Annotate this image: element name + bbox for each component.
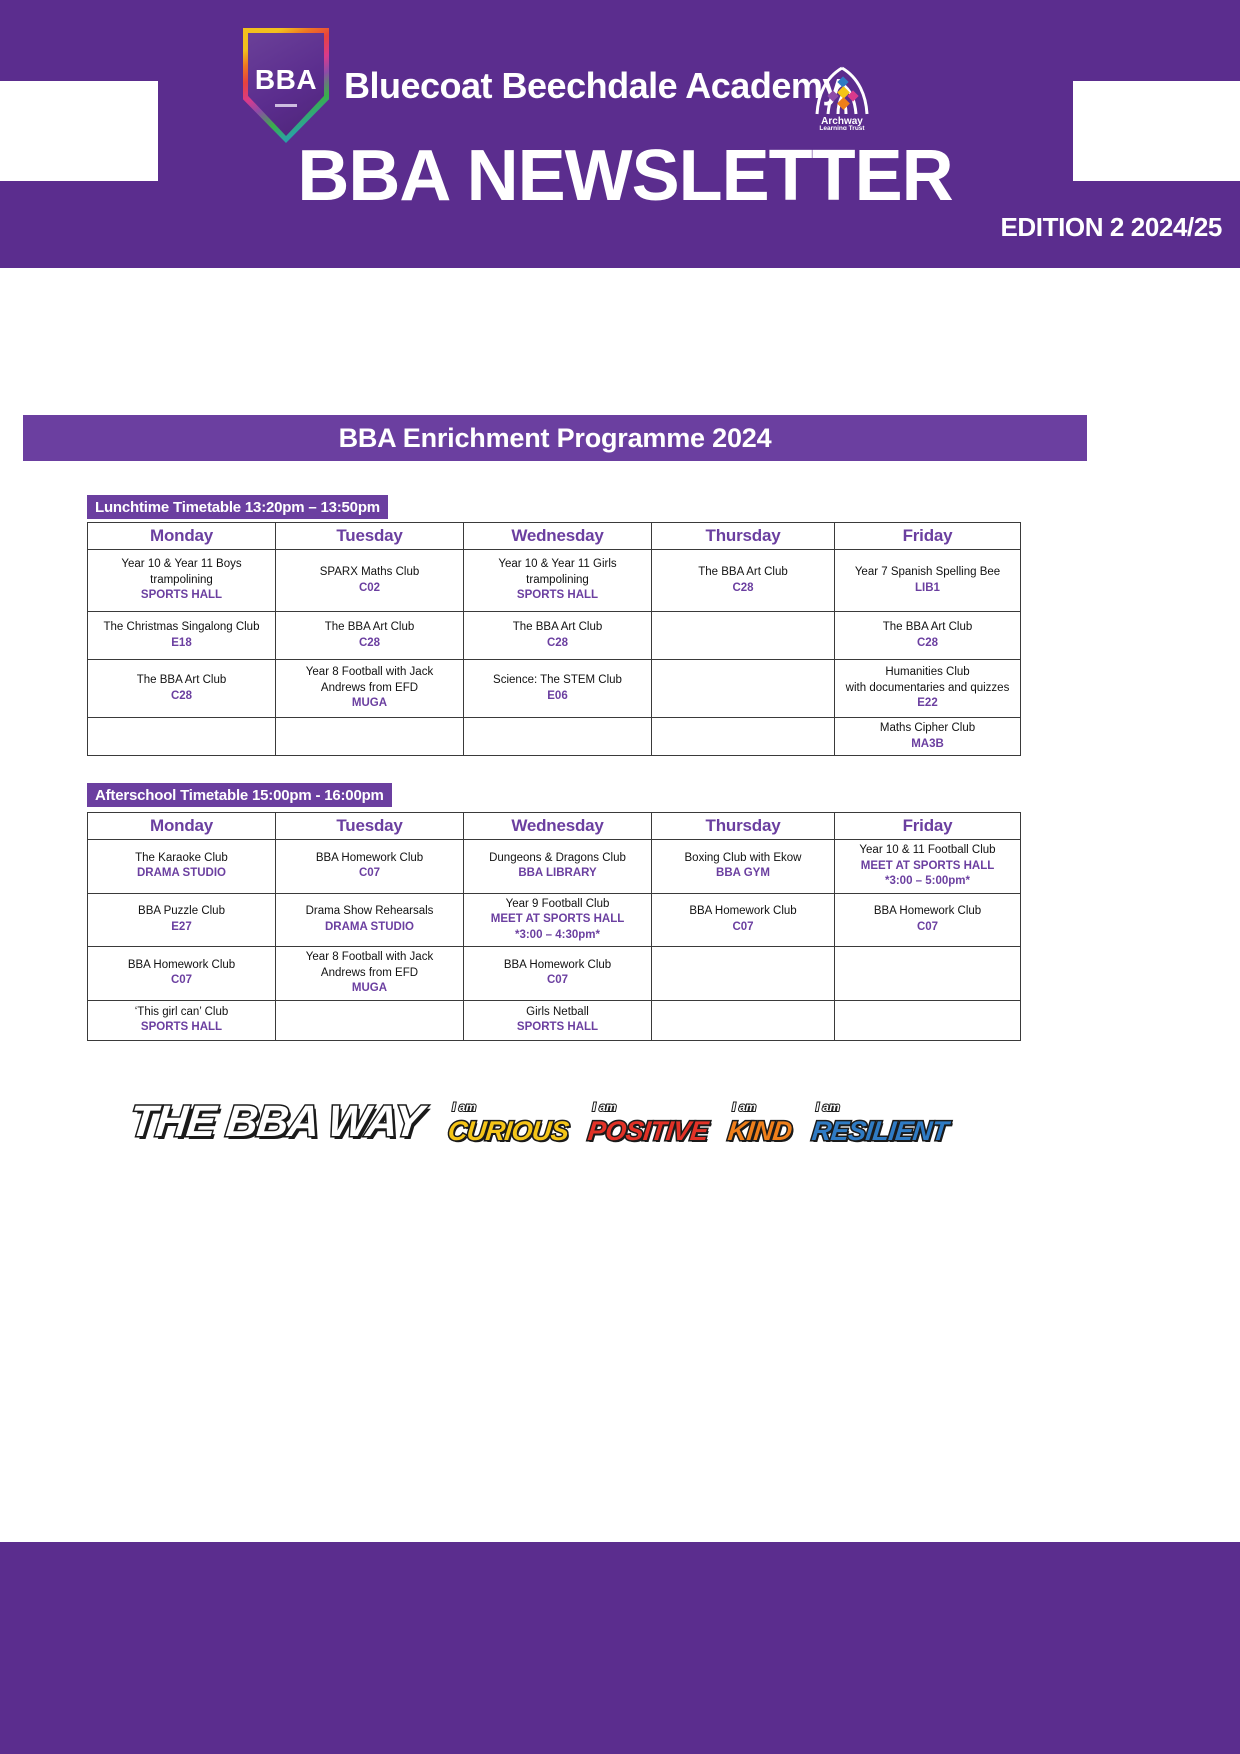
club-room: C07	[92, 973, 271, 989]
academy-name: Bluecoat Beechdale Academy	[344, 65, 842, 107]
empty-cell	[88, 718, 276, 756]
club-name: The BBA Art Club	[92, 673, 271, 689]
club-name: Andrews from EFD	[280, 681, 459, 697]
club-name: BBA Homework Club	[839, 904, 1016, 920]
club-room: C28	[839, 636, 1016, 652]
afterschool-table-body: The Karaoke ClubDRAMA STUDIOBBA Homework…	[88, 840, 1021, 1041]
club-room: MEET AT SPORTS HALL	[468, 912, 647, 928]
afterschool-timetable: MondayTuesdayWednesdayThursdayFriday The…	[87, 812, 1021, 1041]
club-name: The Karaoke Club	[92, 851, 271, 867]
bba-way-iam-label: I am	[452, 1100, 476, 1114]
bba-way-value-word: RESILIENT	[810, 1116, 949, 1147]
page-header: BBA Bluecoat Beechdale Academy	[0, 0, 1240, 268]
club-room: C07	[656, 920, 830, 936]
column-header-wednesday: Wednesday	[464, 813, 652, 840]
club-cell: Year 7 Spanish Spelling BeeLIB1	[835, 550, 1021, 612]
empty-cell	[652, 1000, 835, 1040]
shield-dash-icon	[275, 104, 297, 107]
column-header-tuesday: Tuesday	[276, 813, 464, 840]
club-room: E06	[468, 689, 647, 705]
club-room: MUGA	[280, 696, 459, 712]
club-time-note: *3:00 – 4:30pm*	[468, 928, 647, 944]
column-header-tuesday: Tuesday	[276, 523, 464, 550]
newsletter-title: BBA NEWSLETTER	[0, 140, 1240, 212]
shield-label: BBA	[243, 64, 329, 96]
table-row: BBA Homework ClubC07Year 8 Football with…	[88, 947, 1021, 1001]
club-room: E18	[92, 636, 271, 652]
club-cell: Girls NetballSPORTS HALL	[464, 1000, 652, 1040]
empty-cell	[464, 718, 652, 756]
club-cell: Year 10 & Year 11 BoystrampoliningSPORTS…	[88, 550, 276, 612]
table-row: The Christmas Singalong ClubE18The BBA A…	[88, 612, 1021, 660]
club-name: Year 9 Football Club	[468, 897, 647, 913]
club-cell: The BBA Art ClubC28	[464, 612, 652, 660]
club-room: E27	[92, 920, 271, 936]
club-name: The BBA Art Club	[656, 565, 830, 581]
column-header-wednesday: Wednesday	[464, 523, 652, 550]
club-room: C02	[280, 581, 459, 597]
club-cell: Year 10 & 11 Football ClubMEET AT SPORTS…	[835, 840, 1021, 894]
club-name: The Christmas Singalong Club	[92, 620, 271, 636]
archway-trust-logo: Archway Learning Trust	[813, 62, 871, 130]
club-cell: Drama Show RehearsalsDRAMA STUDIO	[276, 893, 464, 947]
club-name: Year 8 Football with Jack	[280, 665, 459, 681]
club-room: LIB1	[839, 581, 1016, 597]
club-cell: The Karaoke ClubDRAMA STUDIO	[88, 840, 276, 894]
lunchtime-table-head: MondayTuesdayWednesdayThursdayFriday	[88, 523, 1021, 550]
table-row: Maths Cipher ClubMA3B	[88, 718, 1021, 756]
club-room: MA3B	[839, 737, 1016, 753]
club-name: Year 8 Football with Jack	[280, 950, 459, 966]
club-name: BBA Homework Club	[468, 958, 647, 974]
column-header-friday: Friday	[835, 813, 1021, 840]
club-name: The BBA Art Club	[839, 620, 1016, 636]
club-cell: BBA Homework ClubC07	[88, 947, 276, 1001]
club-name: trampolining	[468, 573, 647, 589]
bba-way-value: I amKIND	[728, 1100, 792, 1147]
brand-row: BBA Bluecoat Beechdale Academy	[243, 28, 842, 143]
club-cell: ‘This girl can’ ClubSPORTS HALL	[88, 1000, 276, 1040]
club-name: Year 7 Spanish Spelling Bee	[839, 565, 1016, 581]
table-row: Year 10 & Year 11 BoystrampoliningSPORTS…	[88, 550, 1021, 612]
table-row: BBA Puzzle ClubE27Drama Show RehearsalsD…	[88, 893, 1021, 947]
table-row: The BBA Art ClubC28Year 8 Football with …	[88, 660, 1021, 718]
club-cell: The BBA Art ClubC28	[88, 660, 276, 718]
club-cell: Year 9 Football ClubMEET AT SPORTS HALL*…	[464, 893, 652, 947]
bba-way-value-word: CURIOUS	[446, 1116, 570, 1147]
club-name: SPARX Maths Club	[280, 565, 459, 581]
table-row: The Karaoke ClubDRAMA STUDIOBBA Homework…	[88, 840, 1021, 894]
club-name: Year 10 & Year 11 Boys	[92, 557, 271, 573]
section-banner: BBA Enrichment Programme 2024	[23, 415, 1087, 461]
section-banner-title: BBA Enrichment Programme 2024	[339, 423, 772, 454]
club-room: C28	[280, 636, 459, 652]
column-header-monday: Monday	[88, 813, 276, 840]
bba-way-iam-label: I am	[816, 1100, 840, 1114]
club-time-note: *3:00 – 5:00pm*	[839, 874, 1016, 890]
club-cell: Maths Cipher ClubMA3B	[835, 718, 1021, 756]
club-room: C07	[839, 920, 1016, 936]
club-name: Year 10 & 11 Football Club	[839, 843, 1016, 859]
club-name: BBA Homework Club	[656, 904, 830, 920]
column-header-thursday: Thursday	[652, 813, 835, 840]
club-name: Drama Show Rehearsals	[280, 904, 459, 920]
club-name: with documentaries and quizzes	[839, 681, 1016, 697]
club-room: C28	[656, 581, 830, 597]
club-name: Andrews from EFD	[280, 966, 459, 982]
club-room: C28	[468, 636, 647, 652]
empty-cell	[276, 1000, 464, 1040]
club-cell: Year 8 Football with JackAndrews from EF…	[276, 947, 464, 1001]
club-name: ‘This girl can’ Club	[92, 1005, 271, 1021]
bba-way-title: THE BBA WAY	[127, 1097, 424, 1147]
club-name: Humanities Club	[839, 665, 1016, 681]
edition-label: EDITION 2 2024/25	[1000, 212, 1222, 243]
bba-shield-logo: BBA	[243, 28, 329, 143]
bba-way-value-word: KIND	[727, 1116, 794, 1147]
empty-cell	[835, 1000, 1021, 1040]
club-room: C07	[468, 973, 647, 989]
afterschool-timetable-label: Afterschool Timetable 15:00pm - 16:00pm	[87, 783, 392, 807]
club-room: SPORTS HALL	[92, 1020, 271, 1036]
column-header-monday: Monday	[88, 523, 276, 550]
club-room: C07	[280, 866, 459, 882]
club-room: DRAMA STUDIO	[92, 866, 271, 882]
club-name: Dungeons & Dragons Club	[468, 851, 647, 867]
club-room: SPORTS HALL	[92, 588, 271, 604]
club-cell: BBA Homework ClubC07	[652, 893, 835, 947]
club-name: The BBA Art Club	[280, 620, 459, 636]
club-cell: BBA Puzzle ClubE27	[88, 893, 276, 947]
bba-way-iam-label: I am	[592, 1100, 616, 1114]
bba-way-values: I amCURIOUSI amPOSITIVEI amKINDI amRESIL…	[448, 1100, 947, 1147]
club-name: Girls Netball	[468, 1005, 647, 1021]
club-cell: The BBA Art ClubC28	[276, 612, 464, 660]
club-room: MUGA	[280, 981, 459, 997]
lunchtime-table-body: Year 10 & Year 11 BoystrampoliningSPORTS…	[88, 550, 1021, 756]
bba-way-value: I amPOSITIVE	[588, 1100, 708, 1147]
table-header-row: MondayTuesdayWednesdayThursdayFriday	[88, 813, 1021, 840]
club-cell: Dungeons & Dragons ClubBBA LIBRARY	[464, 840, 652, 894]
empty-cell	[652, 947, 835, 1001]
empty-cell	[835, 947, 1021, 1001]
club-name: Boxing Club with Ekow	[656, 851, 830, 867]
club-room: E22	[839, 696, 1016, 712]
column-header-friday: Friday	[835, 523, 1021, 550]
club-name: BBA Homework Club	[280, 851, 459, 867]
club-name: trampolining	[92, 573, 271, 589]
empty-cell	[652, 612, 835, 660]
lunchtime-timetable: MondayTuesdayWednesdayThursdayFriday Yea…	[87, 522, 1021, 756]
table-row: ‘This girl can’ ClubSPORTS HALLGirls Net…	[88, 1000, 1021, 1040]
trust-name-line2: Learning Trust	[819, 125, 865, 130]
club-cell: Year 10 & Year 11 GirlstrampoliningSPORT…	[464, 550, 652, 612]
empty-cell	[652, 660, 835, 718]
club-cell: The BBA Art ClubC28	[652, 550, 835, 612]
club-cell: BBA Homework ClubC07	[464, 947, 652, 1001]
club-room: DRAMA STUDIO	[280, 920, 459, 936]
club-name: Science: The STEM Club	[468, 673, 647, 689]
club-cell: Boxing Club with EkowBBA GYM	[652, 840, 835, 894]
club-cell: The BBA Art ClubC28	[835, 612, 1021, 660]
club-cell: Year 8 Football with JackAndrews from EF…	[276, 660, 464, 718]
club-room: C28	[92, 689, 271, 705]
table-header-row: MondayTuesdayWednesdayThursdayFriday	[88, 523, 1021, 550]
club-room: BBA GYM	[656, 866, 830, 882]
club-name: BBA Homework Club	[92, 958, 271, 974]
empty-cell	[652, 718, 835, 756]
lunchtime-timetable-label: Lunchtime Timetable 13:20pm – 13:50pm	[87, 495, 388, 519]
empty-cell	[276, 718, 464, 756]
club-cell: The Christmas Singalong ClubE18	[88, 612, 276, 660]
club-cell: SPARX Maths ClubC02	[276, 550, 464, 612]
club-cell: Science: The STEM ClubE06	[464, 660, 652, 718]
newsletter-page: BBA Bluecoat Beechdale Academy	[0, 0, 1240, 1754]
bba-way-value: I amCURIOUS	[448, 1100, 568, 1147]
column-header-thursday: Thursday	[652, 523, 835, 550]
club-cell: Humanities Clubwith documentaries and qu…	[835, 660, 1021, 718]
footer-white-space	[0, 1325, 1240, 1542]
club-room: BBA LIBRARY	[468, 866, 647, 882]
bba-way-iam-label: I am	[732, 1100, 756, 1114]
club-room: MEET AT SPORTS HALL	[839, 859, 1016, 875]
bba-way-value: I amRESILIENT	[812, 1100, 948, 1147]
club-cell: BBA Homework ClubC07	[276, 840, 464, 894]
club-name: BBA Puzzle Club	[92, 904, 271, 920]
club-room: SPORTS HALL	[468, 588, 647, 604]
bba-way-value-word: POSITIVE	[587, 1116, 710, 1147]
club-name: Year 10 & Year 11 Girls	[468, 557, 647, 573]
club-cell: BBA Homework ClubC07	[835, 893, 1021, 947]
club-name: Maths Cipher Club	[839, 721, 1016, 737]
club-name: The BBA Art Club	[468, 620, 647, 636]
bba-way-banner: THE BBA WAY I amCURIOUSI amPOSITIVEI amK…	[130, 1085, 970, 1147]
club-room: SPORTS HALL	[468, 1020, 647, 1036]
afterschool-table-head: MondayTuesdayWednesdayThursdayFriday	[88, 813, 1021, 840]
